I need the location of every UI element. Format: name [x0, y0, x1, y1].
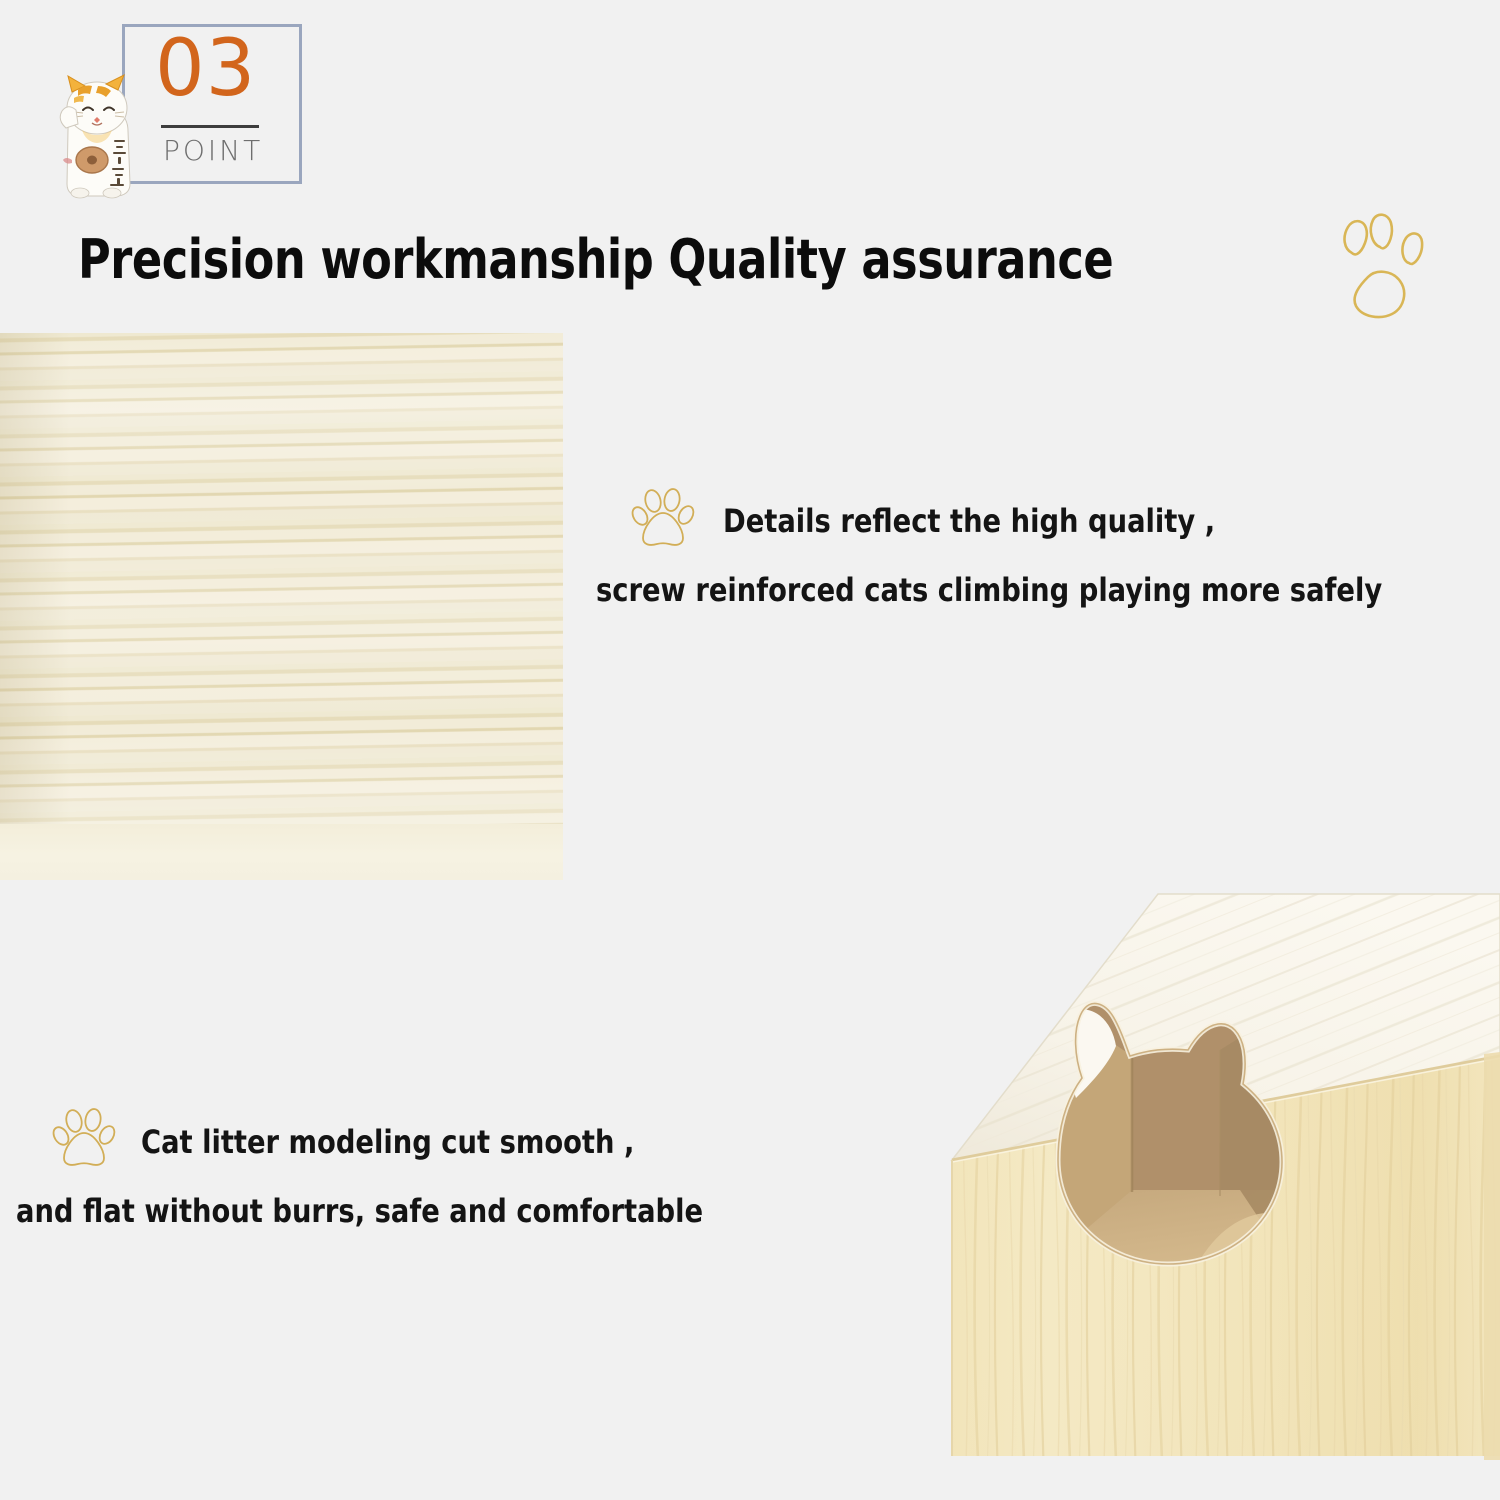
feature-2-line-1: Cat litter modeling cut smooth ,	[141, 1126, 634, 1158]
wood-bottom-edge	[0, 824, 563, 880]
badge-point-label: POINT	[163, 137, 263, 165]
feature-2-line-2: and flat without burrs, safe and comfort…	[16, 1195, 703, 1227]
feature-1-line-1: Details reflect the high quality ,	[723, 505, 1215, 537]
wood-plank-with-screw-photo	[0, 333, 563, 880]
feature-1-line-2: screw reinforced cats climbing playing m…	[596, 574, 1382, 606]
wood-grain-texture	[0, 333, 563, 880]
badge-divider-rule	[161, 125, 259, 128]
cube-right-panel-sliver	[1484, 1052, 1500, 1460]
paw-print-icon	[1330, 213, 1438, 325]
page-title: Precision workmanship Quality assurance	[78, 228, 1113, 291]
badge-number: 03	[155, 30, 256, 108]
paw-print-icon	[631, 487, 699, 553]
point-badge: 03 POINT	[0, 0, 330, 215]
maneki-neko-lucky-cat-icon	[52, 68, 140, 200]
wood-edge-shadow	[0, 333, 70, 880]
paw-print-icon	[52, 1107, 120, 1173]
wooden-cat-house-cube-photo	[900, 860, 1500, 1500]
